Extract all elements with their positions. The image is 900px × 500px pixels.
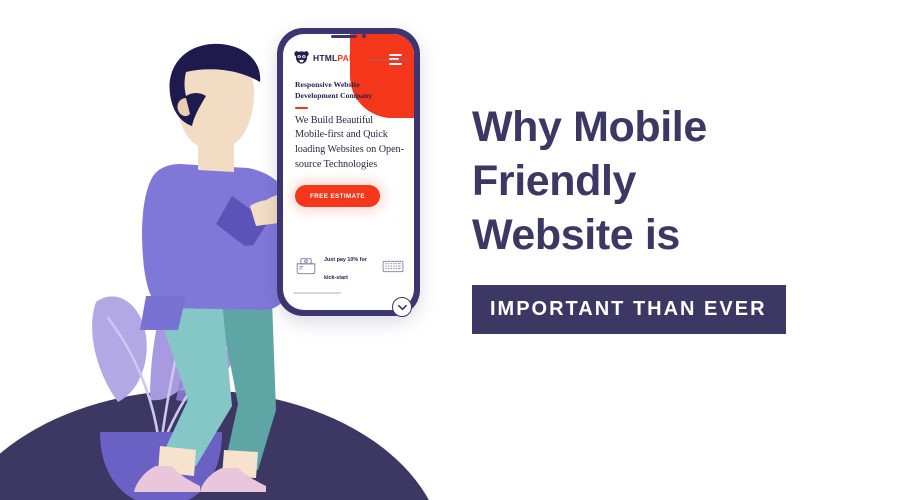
title-line-1: Why Mobile [472,100,872,154]
banner-canvas: HTMLPANDA WEB DESIGN SOLUTIONS Responsiv… [0,0,900,500]
page-title: Why Mobile Friendly Website is [472,100,872,263]
phone-speaker [331,35,357,38]
red-divider [295,107,308,109]
headline-block: Why Mobile Friendly Website is IMPORTANT… [472,100,872,334]
feature-note: Just pay 10% for kick-start [321,248,378,284]
wallet-money-icon [295,257,317,275]
logo-panda: PANDA [337,53,367,63]
phone-eyebrow: Responsive Website Development Company [295,80,404,102]
status-badge[interactable]: IMPORTANT THAN EVER [472,285,786,334]
phone-headline: We Build Beautiful Mobile-first and Quic… [295,114,404,173]
phone-mockup: HTMLPANDA WEB DESIGN SOLUTIONS Responsiv… [277,28,420,316]
title-line-2: Friendly [472,154,872,208]
keyboard-icon [382,259,404,274]
phone-feature-row: Just pay 10% for kick-start [295,248,404,284]
panda-icon [294,50,309,65]
title-line-3: Website is [472,208,872,262]
phone-content: Responsive Website Development Company W… [295,80,404,207]
phone-camera-dot [362,34,366,38]
scroll-indicator-line [293,292,341,294]
phone-screen: HTMLPANDA WEB DESIGN SOLUTIONS Responsiv… [283,34,414,310]
phone-notch [318,31,380,41]
person-shoulder-shadow [140,296,186,330]
logo-html: HTML [313,53,337,63]
free-estimate-button[interactable]: FREE ESTIMATE [295,185,380,207]
logo-text: HTMLPANDA WEB DESIGN SOLUTIONS [313,49,410,65]
logo-tagline: WEB DESIGN SOLUTIONS [370,59,410,62]
feature-note-text: Just pay 10% for kick-start [324,257,367,281]
phone-cta-wrap: FREE ESTIMATE [295,185,404,208]
site-logo[interactable]: HTMLPANDA WEB DESIGN SOLUTIONS [294,49,410,65]
chevron-down-icon[interactable] [392,297,412,317]
person-head [170,44,261,172]
